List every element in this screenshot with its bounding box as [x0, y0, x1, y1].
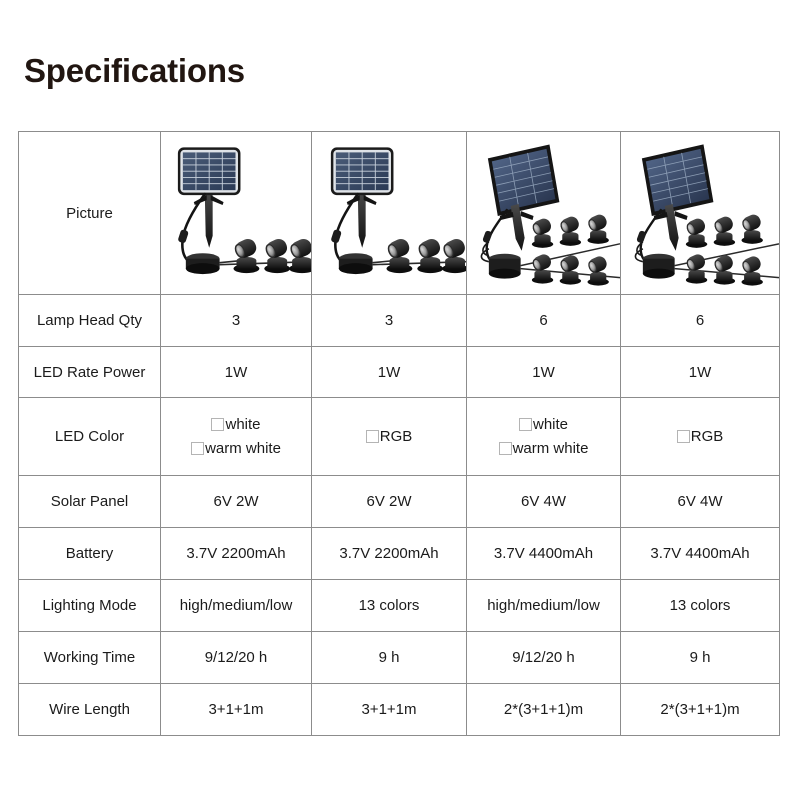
- table-row-solar-panel: Solar Panel 6V 2W 6V 2W 6V 4W 6V 4W: [19, 476, 780, 528]
- cell-led-rate-power-3: 1W: [467, 347, 621, 398]
- cell-battery-2: 3.7V 2200mAh: [312, 528, 467, 580]
- product-cell-3: [467, 132, 621, 295]
- cell-led-color-1: white warm white: [161, 398, 312, 476]
- page-title: Specifications: [24, 51, 245, 91]
- table-row-lamp-head-qty: Lamp Head Qty 3 3 6 6: [19, 295, 780, 347]
- led-color-options-1: white warm white: [161, 398, 311, 475]
- cell-lighting-mode-3: high/medium/low: [467, 580, 621, 632]
- checkbox-icon[interactable]: [211, 418, 224, 431]
- row-label-working-time: Working Time: [19, 632, 161, 684]
- row-label-led-color: LED Color: [19, 398, 161, 476]
- cell-led-rate-power-2: 1W: [312, 347, 467, 398]
- led-color-option-label: warm white: [513, 441, 589, 456]
- cell-working-time-2: 9 h: [312, 632, 467, 684]
- led-color-option-label: white: [225, 417, 260, 432]
- cell-wire-length-4: 2*(3+1+1)m: [621, 684, 780, 736]
- specifications-table: Picture: [18, 131, 780, 736]
- table-row-led-color: LED Color white warm white: [19, 398, 780, 476]
- cell-lamp-head-qty-3: 6: [467, 295, 621, 347]
- cell-working-time-1: 9/12/20 h: [161, 632, 312, 684]
- table-row-battery: Battery 3.7V 2200mAh 3.7V 2200mAh 3.7V 4…: [19, 528, 780, 580]
- cell-led-rate-power-4: 1W: [621, 347, 780, 398]
- checkbox-icon[interactable]: [366, 430, 379, 443]
- cell-led-rate-power-1: 1W: [161, 347, 312, 398]
- cell-battery-1: 3.7V 2200mAh: [161, 528, 312, 580]
- cell-solar-panel-3: 6V 4W: [467, 476, 621, 528]
- cell-wire-length-2: 3+1+1m: [312, 684, 467, 736]
- cell-lamp-head-qty-2: 3: [312, 295, 467, 347]
- table-row-wire-length: Wire Length 3+1+1m 3+1+1m 2*(3+1+1)m 2*(…: [19, 684, 780, 736]
- cell-led-color-3: white warm white: [467, 398, 621, 476]
- cell-battery-3: 3.7V 4400mAh: [467, 528, 621, 580]
- led-color-option[interactable]: RGB: [366, 429, 413, 444]
- cell-lighting-mode-1: high/medium/low: [161, 580, 312, 632]
- led-color-option-label: RGB: [691, 429, 724, 444]
- cell-solar-panel-2: 6V 2W: [312, 476, 467, 528]
- cell-solar-panel-1: 6V 2W: [161, 476, 312, 528]
- cell-working-time-3: 9/12/20 h: [467, 632, 621, 684]
- cell-led-color-4: RGB: [621, 398, 780, 476]
- checkbox-icon[interactable]: [519, 418, 532, 431]
- row-label-picture: Picture: [19, 132, 161, 295]
- led-color-option[interactable]: RGB: [677, 429, 724, 444]
- table-row-lighting-mode: Lighting Mode high/medium/low 13 colors …: [19, 580, 780, 632]
- table-row-picture: Picture: [19, 132, 780, 295]
- row-label-wire-length: Wire Length: [19, 684, 161, 736]
- table-row-working-time: Working Time 9/12/20 h 9 h 9/12/20 h 9 h: [19, 632, 780, 684]
- cell-wire-length-1: 3+1+1m: [161, 684, 312, 736]
- checkbox-icon[interactable]: [499, 442, 512, 455]
- led-color-option[interactable]: white: [211, 417, 260, 432]
- checkbox-icon[interactable]: [677, 430, 690, 443]
- led-color-options-3: white warm white: [467, 398, 620, 475]
- cell-lamp-head-qty-4: 6: [621, 295, 780, 347]
- led-color-option-label: RGB: [380, 429, 413, 444]
- led-color-option[interactable]: white: [519, 417, 568, 432]
- led-color-options-2: RGB: [312, 398, 466, 475]
- cell-lighting-mode-4: 13 colors: [621, 580, 780, 632]
- checkbox-icon[interactable]: [191, 442, 204, 455]
- product-cell-4: [621, 132, 780, 295]
- row-label-led-rate-power: LED Rate Power: [19, 347, 161, 398]
- product-image-1: [161, 132, 311, 294]
- cell-lamp-head-qty-1: 3: [161, 295, 312, 347]
- cell-battery-4: 3.7V 4400mAh: [621, 528, 780, 580]
- led-color-option[interactable]: warm white: [499, 441, 589, 456]
- cell-working-time-4: 9 h: [621, 632, 780, 684]
- row-label-lamp-head-qty: Lamp Head Qty: [19, 295, 161, 347]
- led-color-option-label: white: [533, 417, 568, 432]
- product-image-3: [467, 132, 620, 294]
- row-label-lighting-mode: Lighting Mode: [19, 580, 161, 632]
- led-color-option-label: warm white: [205, 441, 281, 456]
- row-label-solar-panel: Solar Panel: [19, 476, 161, 528]
- row-label-battery: Battery: [19, 528, 161, 580]
- cell-wire-length-3: 2*(3+1+1)m: [467, 684, 621, 736]
- product-cell-2: [312, 132, 467, 295]
- cell-solar-panel-4: 6V 4W: [621, 476, 780, 528]
- cell-lighting-mode-2: 13 colors: [312, 580, 467, 632]
- product-cell-1: [161, 132, 312, 295]
- product-image-2: [312, 132, 466, 294]
- led-color-options-4: RGB: [621, 398, 779, 475]
- cell-led-color-2: RGB: [312, 398, 467, 476]
- product-image-4: [621, 132, 779, 294]
- table-row-led-rate-power: LED Rate Power 1W 1W 1W 1W: [19, 347, 780, 398]
- led-color-option[interactable]: warm white: [191, 441, 281, 456]
